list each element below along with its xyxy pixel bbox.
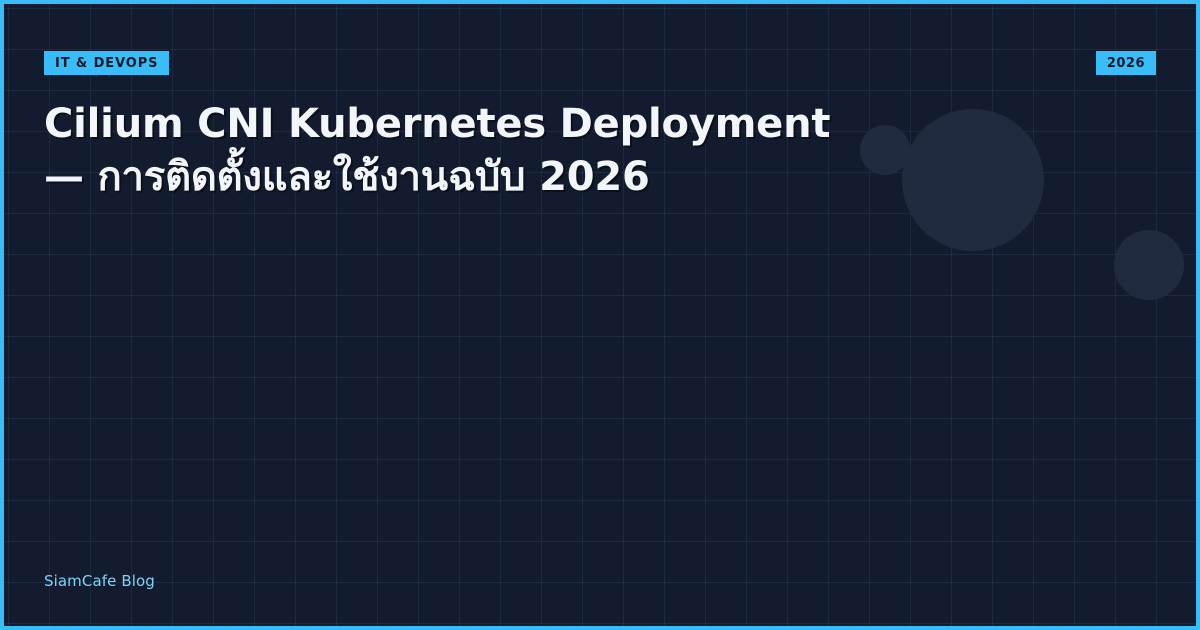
page-title-line-2: — การติดตั้งและใช้งานฉบับ 2026	[44, 151, 864, 204]
page-title: Cilium CNI Kubernetes Deployment — การติ…	[44, 98, 864, 204]
social-share-card: IT & DEVOPS 2026 Cilium CNI Kubernetes D…	[0, 0, 1200, 630]
category-badge: IT & DEVOPS	[44, 51, 169, 75]
page-title-line-1: Cilium CNI Kubernetes Deployment	[44, 98, 864, 151]
year-badge: 2026	[1096, 51, 1156, 75]
card-content: IT & DEVOPS 2026 Cilium CNI Kubernetes D…	[4, 4, 1196, 626]
site-name-footer: SiamCafe Blog	[44, 572, 155, 590]
